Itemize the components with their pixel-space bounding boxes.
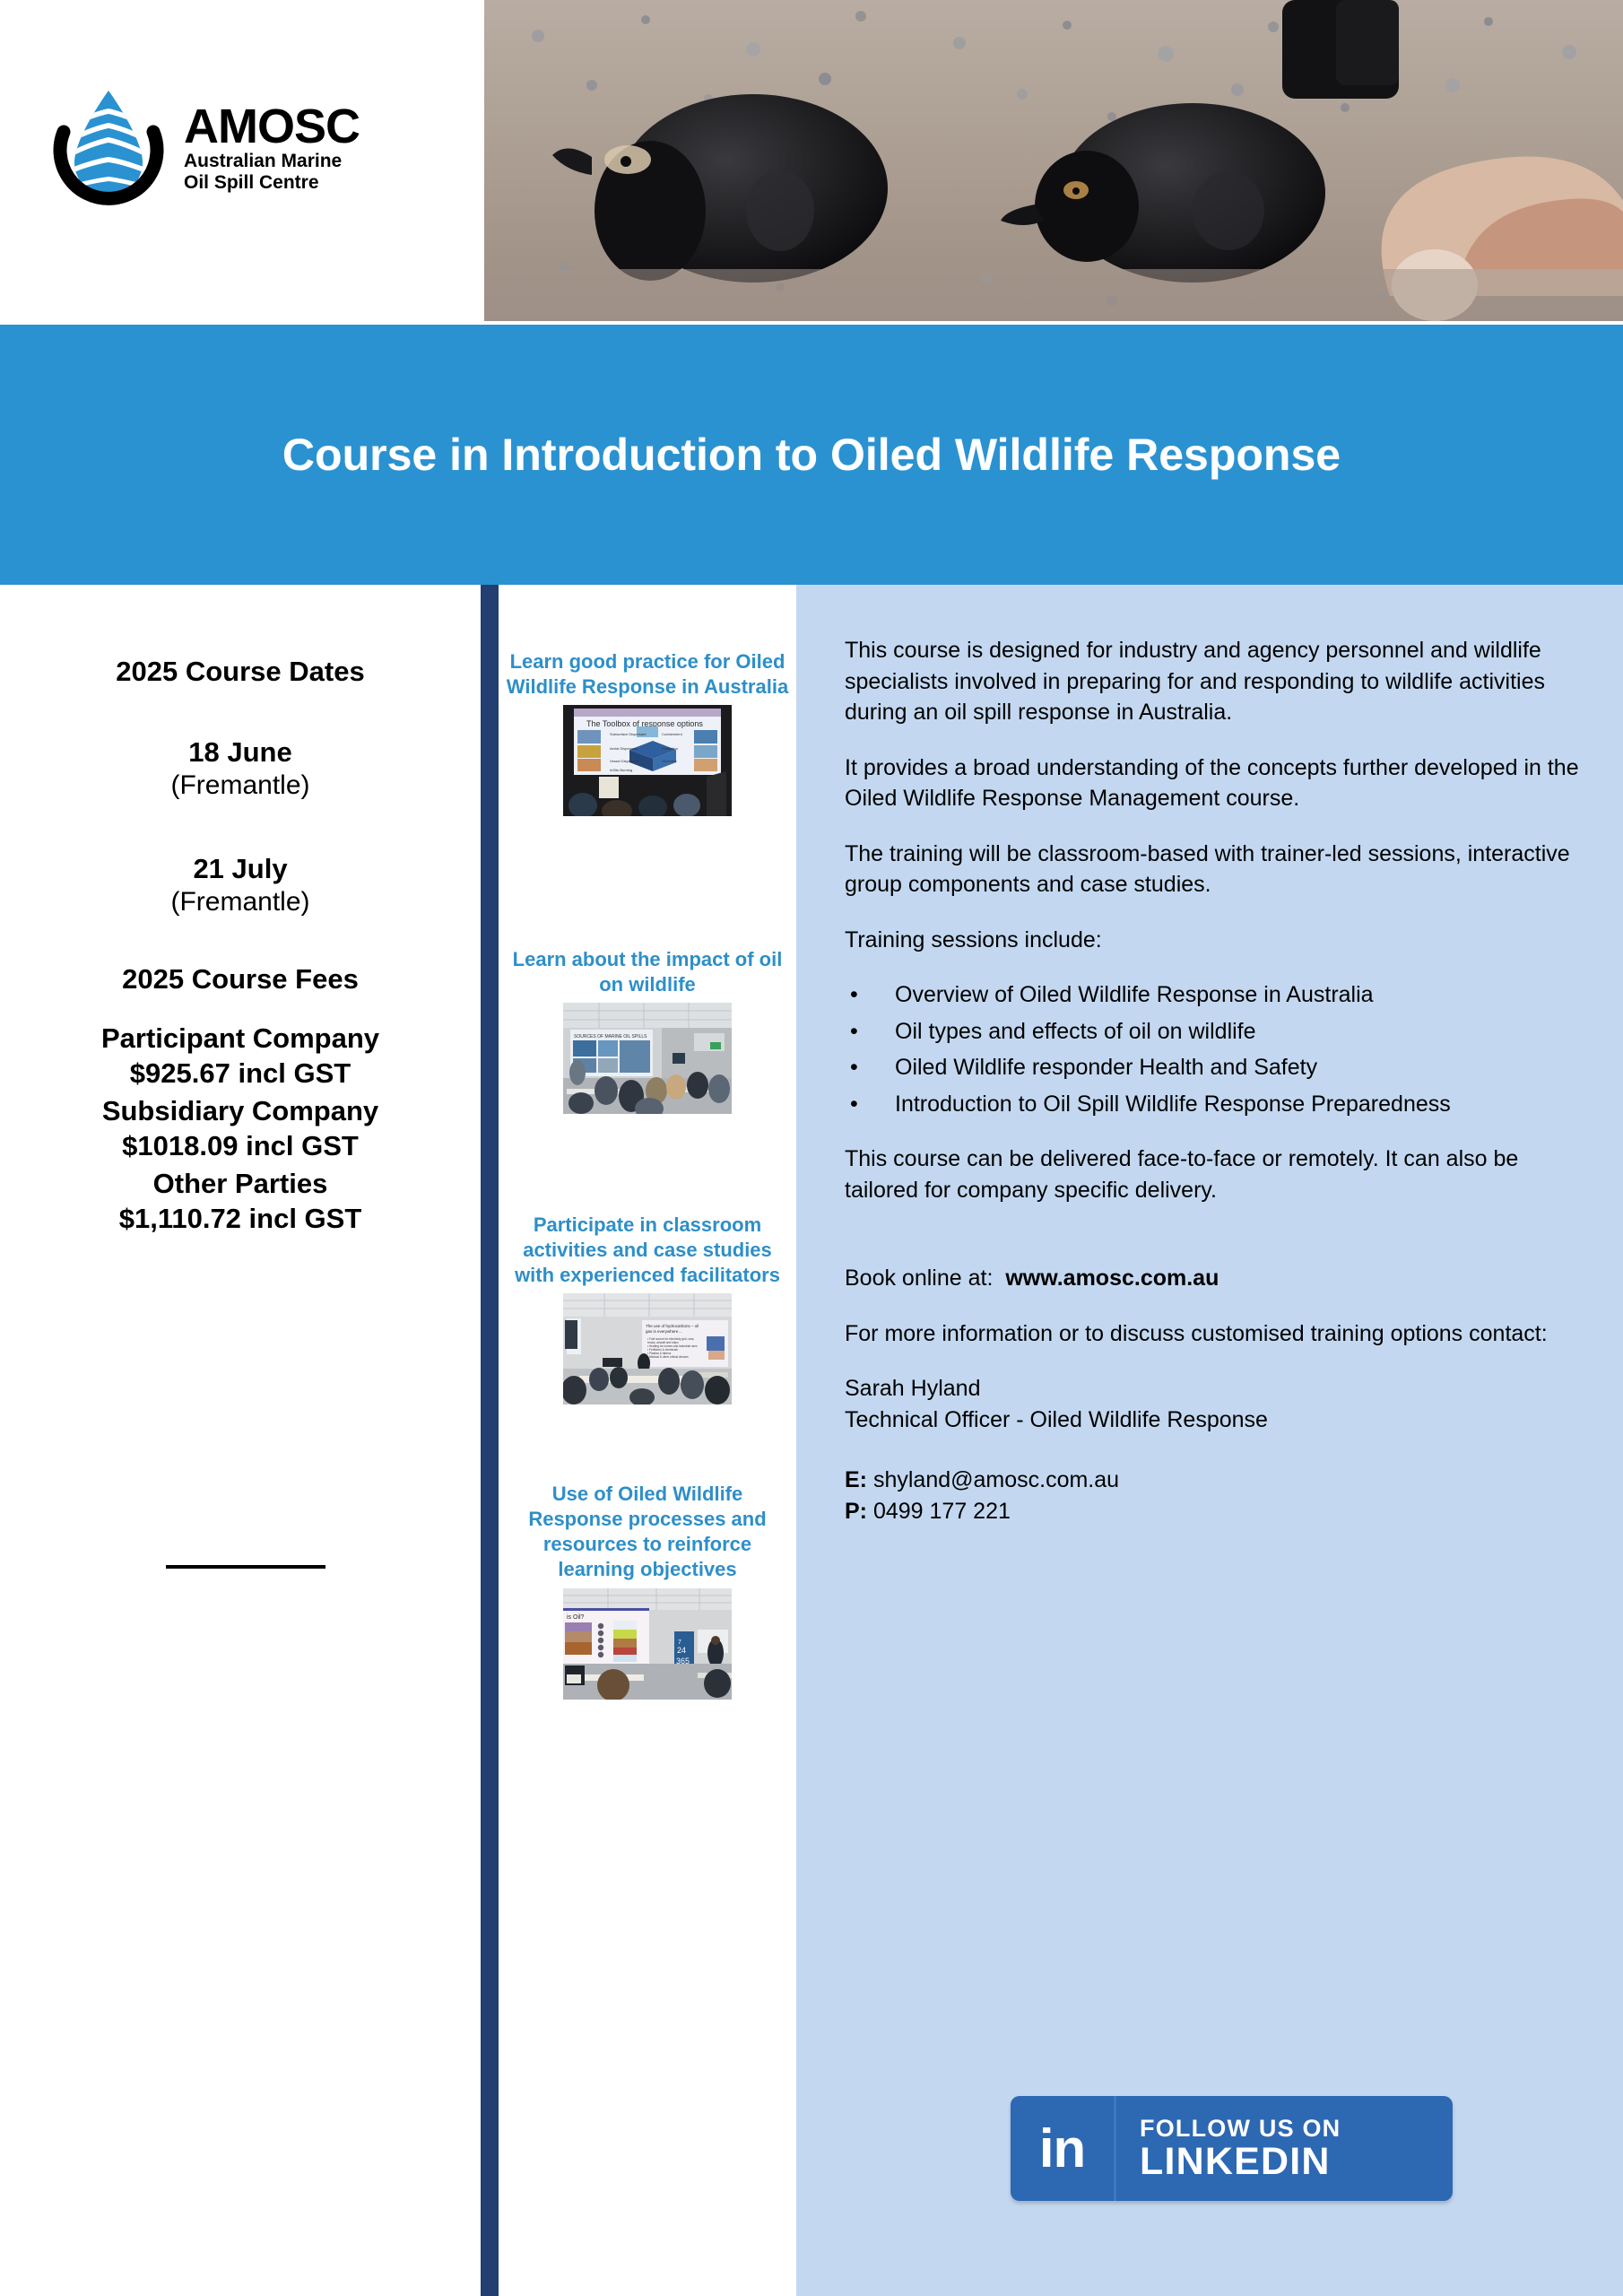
contact-name: Sarah Hyland: [845, 1373, 1580, 1405]
paragraph-delivery-format: The training will be classroom-based wit…: [845, 839, 1580, 900]
svg-text:7: 7: [678, 1639, 681, 1646]
contact-role: Technical Officer - Oiled Wildlife Respo…: [845, 1405, 1580, 1436]
fee-name-subsidiary: Subsidiary Company: [0, 1095, 481, 1127]
list-item: • Oiled Wildlife responder Health and Sa…: [845, 1052, 1580, 1083]
course-date-2: 21 July: [0, 853, 481, 885]
page-title: Course in Introduction to Oiled Wildlife…: [229, 428, 1394, 483]
email-label: E:: [845, 1467, 867, 1492]
phone-number: 0499 177 221: [873, 1499, 1011, 1524]
svg-text:is Oil?: is Oil?: [567, 1614, 585, 1621]
contact-email-row: E: shyland@amosc.com.au: [845, 1465, 1580, 1496]
course-date-1: 18 June: [0, 736, 481, 769]
svg-text:The use of hydrocarbons – oil: The use of hydrocarbons – oil: [646, 1324, 699, 1328]
brand-acronym: AMOSC: [184, 102, 360, 151]
feature-photo-is-oil: is Oil? 7 24 365: [563, 1588, 732, 1700]
page-title-banner: Course in Introduction to Oiled Wildlife…: [0, 325, 1623, 585]
svg-text:• Medical & other critical dev: • Medical & other critical devices: [647, 1355, 689, 1359]
feature-block-2: Learn about the impact of oil on wildlif…: [499, 947, 796, 1114]
water-droplet-icon: [49, 85, 168, 211]
phone-label: P:: [845, 1499, 867, 1524]
email-address-link[interactable]: shyland@amosc.com.au: [873, 1467, 1119, 1492]
svg-text:Aerial Dispersant: Aerial Dispersant: [610, 746, 638, 751]
paragraph-audience: This course is designed for industry and…: [845, 635, 1580, 728]
linkedin-wordmark: LINKEDIN: [1140, 2142, 1341, 2183]
amosc-logo: AMOSC Australian Marine Oil Spill Centre: [49, 76, 426, 220]
linkedin-in-glyph: in: [1039, 2122, 1085, 2176]
svg-text:gas is everywhere…: gas is everywhere…: [646, 1329, 682, 1334]
course-dates-heading: 2025 Course Dates: [0, 656, 481, 688]
brand-line-1: Australian Marine: [184, 151, 360, 172]
course-location-2: (Fremantle): [0, 887, 481, 918]
fee-amount-subsidiary: $1018.09 incl GST: [0, 1130, 481, 1162]
brand-line-2: Oil Spill Centre: [184, 172, 360, 194]
fee-name-other: Other Parties: [0, 1168, 481, 1200]
feature-caption-1: Learn good practice for Oiled Wildlife R…: [499, 649, 796, 700]
list-item: • Introduction to Oil Spill Wildlife Res…: [845, 1089, 1580, 1120]
vertical-divider: [481, 585, 499, 2296]
linkedin-icon: in: [1011, 2096, 1116, 2201]
bullet-icon: •: [845, 1016, 895, 1048]
logo-wordmark: AMOSC Australian Marine Oil Spill Centre: [184, 102, 360, 195]
follow-us-on-linkedin-button[interactable]: in FOLLOW US ON LINKEDIN: [1011, 2096, 1453, 2201]
list-item: • Overview of Oiled Wildlife Response in…: [845, 979, 1580, 1011]
session-topic-2: Oil types and effects of oil on wildlife: [895, 1016, 1256, 1048]
linkedin-follow-label: FOLLOW US ON: [1140, 2115, 1341, 2142]
course-fees-heading: 2025 Course Fees: [0, 963, 481, 996]
svg-text:SOURCES OF MARINE OIL SPILLS: SOURCES OF MARINE OIL SPILLS: [574, 1034, 647, 1039]
booking-label: Book online at:: [845, 1265, 993, 1291]
fee-amount-other: $1,110.72 incl GST: [0, 1203, 481, 1235]
feature-caption-4: Use of Oiled Wildlife Response processes…: [499, 1482, 796, 1583]
contact-phone-row: P: 0499 177 221: [845, 1496, 1580, 1527]
feature-caption-2: Learn about the impact of oil on wildlif…: [499, 947, 796, 997]
svg-text:24: 24: [677, 1646, 686, 1655]
right-panel: This course is designed for industry and…: [796, 585, 1623, 2296]
page-header: AMOSC Australian Marine Oil Spill Centre: [0, 0, 1623, 325]
delivery-note: This course can be delivered face-to-fac…: [845, 1144, 1580, 1205]
paragraph-concepts: It provides a broad understanding of the…: [845, 752, 1580, 814]
bullet-icon: •: [845, 979, 895, 1011]
training-sessions-list: • Overview of Oiled Wildlife Response in…: [845, 979, 1580, 1119]
feature-block-1: Learn good practice for Oiled Wildlife R…: [499, 649, 796, 816]
session-topic-4: Introduction to Oil Spill Wildlife Respo…: [895, 1089, 1451, 1120]
bullet-icon: •: [845, 1052, 895, 1083]
svg-text:Vessel Dispersant: Vessel Dispersant: [610, 759, 639, 763]
body-area: 2025 Course Dates 18 June (Fremantle) 21…: [0, 585, 1623, 2296]
more-info-text: For more information or to discuss custo…: [845, 1318, 1580, 1350]
left-column: 2025 Course Dates 18 June (Fremantle) 21…: [0, 585, 481, 2296]
svg-text:Containment: Containment: [662, 732, 683, 736]
bullet-icon: •: [845, 1089, 895, 1120]
session-topic-3: Oiled Wildlife responder Health and Safe…: [895, 1052, 1317, 1083]
feature-caption-3: Participate in classroom activities and …: [499, 1213, 796, 1288]
svg-text:InSitu Burning: InSitu Burning: [610, 768, 632, 772]
booking-line: Book online at: www.amosc.com.au: [845, 1263, 1580, 1294]
course-location-1: (Fremantle): [0, 770, 481, 801]
course-description: This course is designed for industry and…: [845, 635, 1580, 1526]
booking-url-link[interactable]: www.amosc.com.au: [1005, 1265, 1219, 1291]
section-divider: [166, 1565, 325, 1569]
feature-block-3: Participate in classroom activities and …: [499, 1213, 796, 1405]
fee-name-participant: Participant Company: [0, 1022, 481, 1055]
hero-image-oiled-penguins: [484, 0, 1623, 321]
svg-text:Protection: Protection: [662, 746, 678, 751]
feature-photo-toolbox: The Toolbox of response options Subsurfa…: [563, 705, 732, 816]
fee-amount-participant: $925.67 incl GST: [0, 1057, 481, 1090]
feature-photo-hydrocarbons: The use of hydrocarbons – oil gas is eve…: [563, 1293, 732, 1405]
session-topic-1: Overview of Oiled Wildlife Response in A…: [895, 979, 1374, 1011]
sessions-intro: Training sessions include:: [845, 925, 1580, 956]
feature-photo-sources: SOURCES OF MARINE OIL SPILLS: [563, 1003, 732, 1114]
list-item: • Oil types and effects of oil on wildli…: [845, 1016, 1580, 1048]
svg-text:Shoreline: Shoreline: [662, 759, 678, 763]
svg-text:Subsurface Dispersant: Subsurface Dispersant: [610, 732, 647, 736]
linkedin-label-group: FOLLOW US ON LINKEDIN: [1116, 2115, 1341, 2183]
middle-column: Learn good practice for Oiled Wildlife R…: [499, 585, 796, 2296]
feature-block-4: Use of Oiled Wildlife Response processes…: [499, 1482, 796, 1700]
